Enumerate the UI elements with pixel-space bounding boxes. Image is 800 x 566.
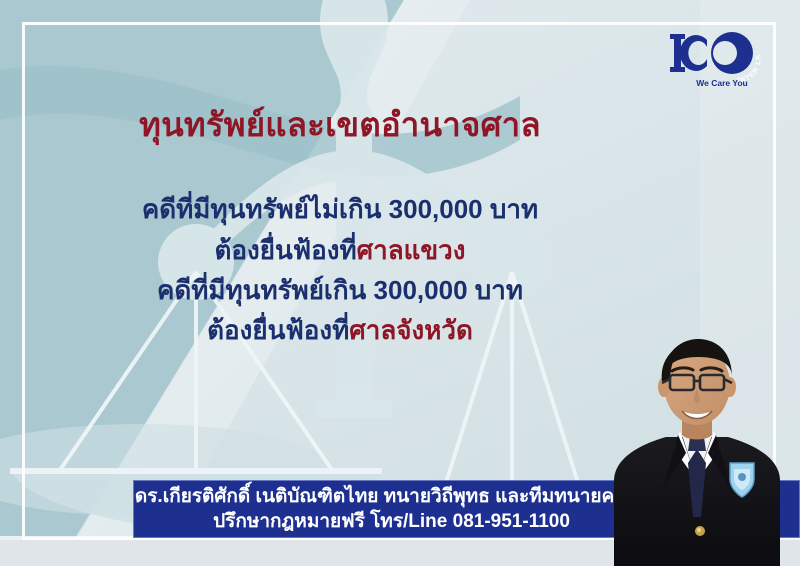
body-line-4: ต้องยื่นฟ้องที่ศาลจังหวัด bbox=[40, 310, 640, 350]
body-line-4-main: ต้องยื่นฟ้องที่ bbox=[207, 315, 349, 345]
lawyer-portrait bbox=[602, 331, 792, 566]
content-block: ทุนทรัพย์และเขตอำนาจศาล คดีที่มีทุนทรัพย… bbox=[40, 104, 640, 350]
body-line-1: คดีที่มีทุนทรัพย์ไม่เกิน 300,000 บาท bbox=[40, 189, 640, 229]
page-title: ทุนทรัพย์และเขตอำนาจศาล bbox=[40, 104, 640, 145]
body-line-3-main: คดีที่มีทุนทรัพย์เกิน 300,000 บาท bbox=[157, 275, 523, 305]
poster-canvas: INTER LAW We Care You ทุนทรัพย์และเขตอำน… bbox=[0, 0, 800, 566]
body-line-2: ต้องยื่นฟ้องที่ศาลแขวง bbox=[40, 230, 640, 270]
banner-line-contact: ปรึกษากฎหมายฟรี โทร/Line 081-951-1100 bbox=[213, 510, 570, 534]
banner-line-name: ดร.เกียรติศักดิ์ เนติบัณฑิตไทย ทนายวิถีพ… bbox=[135, 485, 648, 509]
body-line-2-accent: ศาลแขวง bbox=[357, 235, 466, 265]
ico-inter-law-logo: INTER LAW We Care You bbox=[668, 26, 776, 92]
logo-tagline: We Care You bbox=[696, 78, 748, 88]
body-line-2-main: ต้องยื่นฟ้องที่ bbox=[215, 235, 357, 265]
body-line-1-main: คดีที่มีทุนทรัพย์ไม่เกิน 300,000 บาท bbox=[142, 194, 538, 224]
body-line-3: คดีที่มีทุนทรัพย์เกิน 300,000 บาท bbox=[40, 270, 640, 310]
body-line-4-accent: ศาลจังหวัด bbox=[349, 315, 473, 345]
